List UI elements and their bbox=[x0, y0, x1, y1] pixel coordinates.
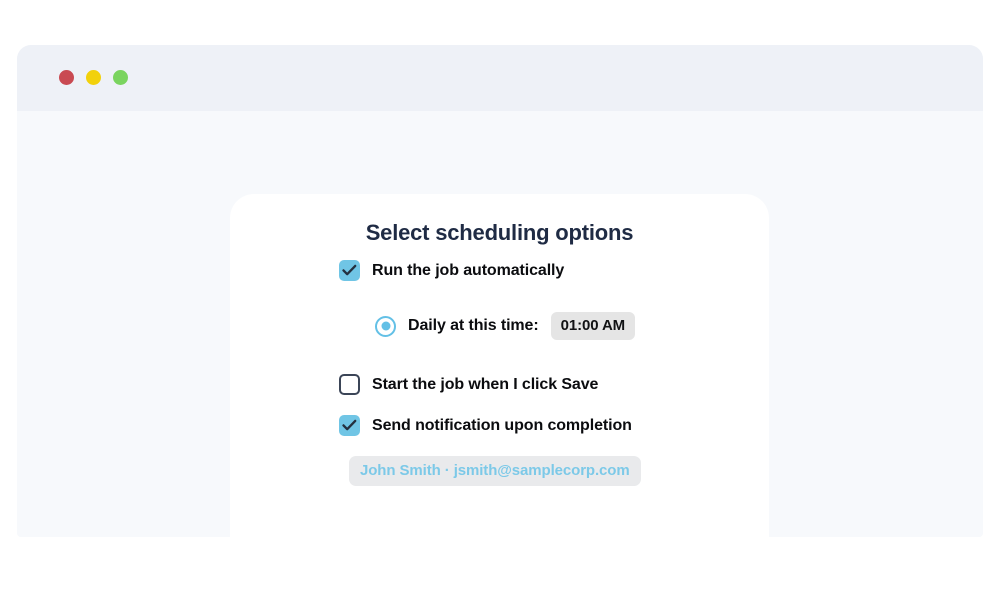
checkbox-run-automatically[interactable] bbox=[339, 260, 360, 281]
window-titlebar bbox=[17, 45, 983, 111]
notification-recipient-chip[interactable]: John Smith · jsmith@samplecorp.com bbox=[349, 456, 641, 486]
time-value-field[interactable]: 01:00 AM bbox=[551, 312, 636, 340]
checkbox-start-on-save[interactable] bbox=[339, 374, 360, 395]
radio-selected-dot bbox=[381, 322, 390, 331]
option-run-automatically[interactable]: Run the job automatically bbox=[339, 260, 564, 281]
app-root: Select scheduling options Run the job au… bbox=[0, 0, 1000, 600]
scheduling-options-dialog: Select scheduling options Run the job au… bbox=[230, 194, 769, 537]
maximize-window-icon[interactable] bbox=[113, 70, 128, 85]
option-daily-schedule[interactable]: Daily at this time: 01:00 AM bbox=[375, 312, 635, 340]
traffic-light-controls bbox=[59, 70, 128, 85]
option-label-start-on-save: Start the job when I click Save bbox=[372, 376, 598, 394]
check-icon bbox=[342, 264, 357, 277]
app-window: Select scheduling options Run the job au… bbox=[17, 45, 983, 537]
window-content-area: Select scheduling options Run the job au… bbox=[17, 111, 983, 537]
option-start-on-save[interactable]: Start the job when I click Save bbox=[339, 374, 598, 395]
option-label-daily-schedule: Daily at this time: bbox=[408, 317, 539, 335]
option-label-send-notification: Send notification upon completion bbox=[372, 417, 632, 435]
check-icon bbox=[342, 419, 357, 432]
option-send-notification[interactable]: Send notification upon completion bbox=[339, 415, 632, 436]
close-window-icon[interactable] bbox=[59, 70, 74, 85]
checkbox-send-notification[interactable] bbox=[339, 415, 360, 436]
page-title: Select scheduling options bbox=[230, 220, 769, 246]
option-label-run-automatically: Run the job automatically bbox=[372, 262, 564, 280]
minimize-window-icon[interactable] bbox=[86, 70, 101, 85]
radio-daily-schedule[interactable] bbox=[375, 316, 396, 337]
